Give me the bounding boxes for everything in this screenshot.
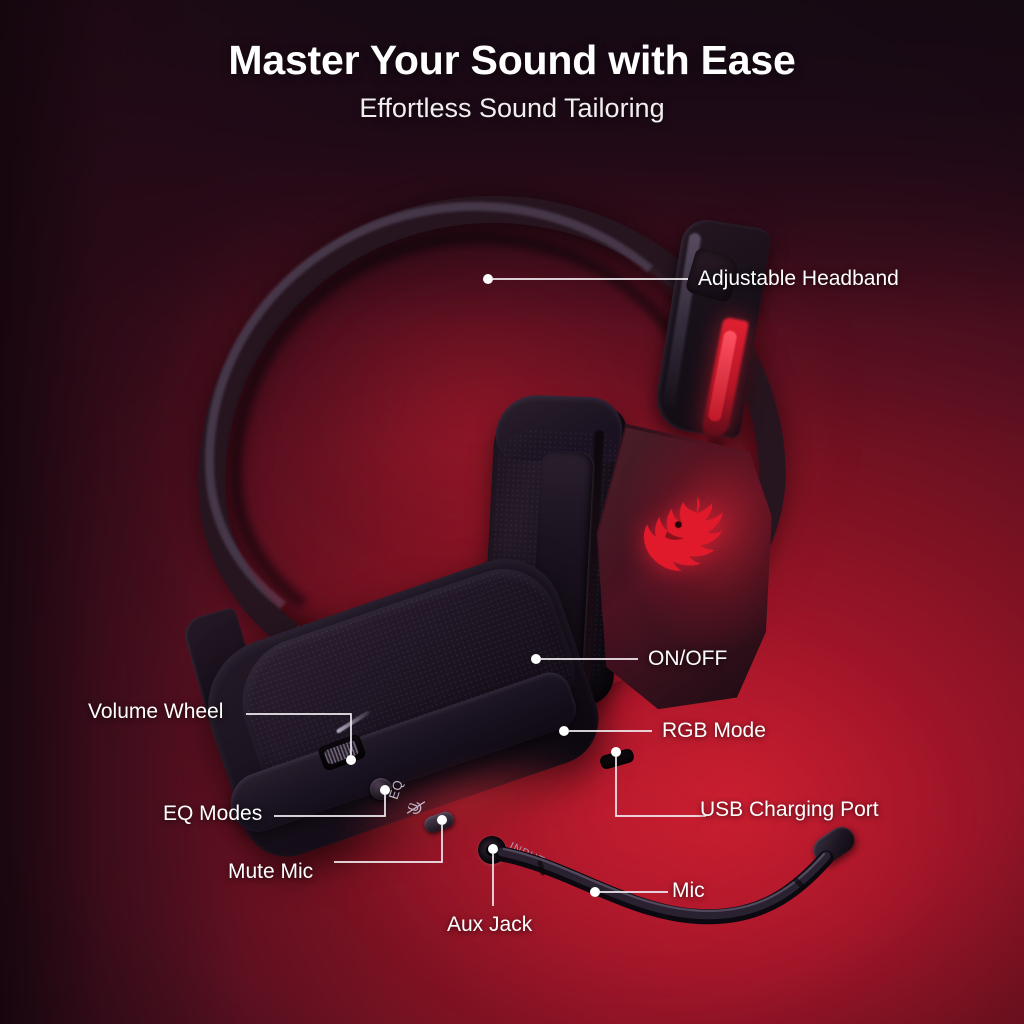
leader-aux-jack [484, 842, 504, 910]
callout-mic: Mic [672, 879, 705, 903]
product-infographic: Master Your Sound with Ease Effortless S… [0, 0, 1024, 1024]
callout-rgb-mode: RGB Mode [662, 719, 766, 743]
callout-usb-charging-port: USB Charging Port [700, 798, 879, 822]
leader-mute-mic [332, 812, 450, 870]
callout-mute-mic: Mute Mic [228, 860, 313, 884]
leader-on-off [528, 642, 644, 676]
leader-volume-wheel [244, 700, 358, 766]
page-title: Master Your Sound with Ease [0, 38, 1024, 84]
leader-rgb-mode [556, 714, 658, 748]
heading-block: Master Your Sound with Ease Effortless S… [0, 38, 1024, 124]
callout-volume-wheel: Volume Wheel [88, 700, 223, 724]
page-subtitle: Effortless Sound Tailoring [0, 92, 1024, 124]
leader-usb-charging-port [608, 744, 712, 830]
headset-illustration: ⏻ EQ [0, 0, 1024, 1024]
callout-adjustable-headband: Adjustable Headband [698, 267, 899, 291]
callout-on-off: ON/OFF [648, 647, 727, 671]
leader-adjustable-headband [480, 262, 696, 296]
redragon-dragon-head-icon [633, 490, 744, 580]
leader-mic [588, 878, 674, 906]
callout-eq-modes: EQ Modes [163, 802, 262, 826]
callout-aux-jack: Aux Jack [447, 913, 532, 937]
